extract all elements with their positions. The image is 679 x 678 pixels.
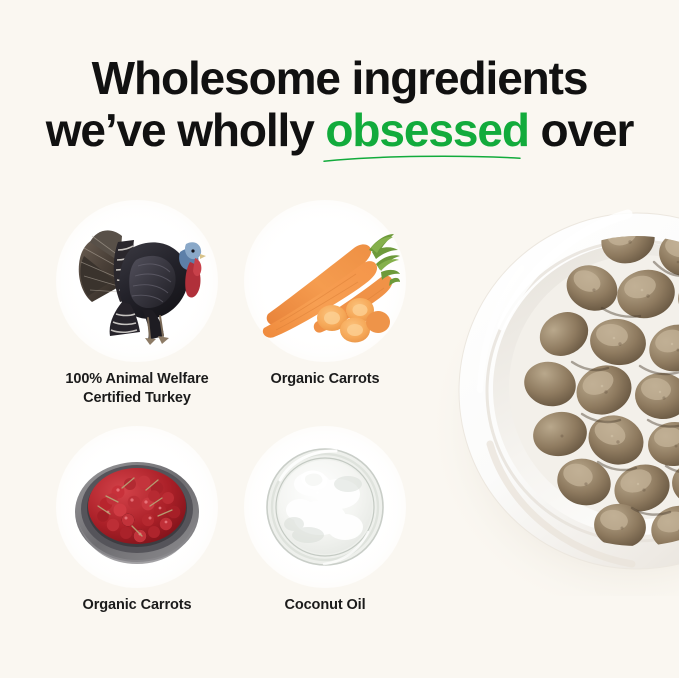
coconut-oil-jar-photo-icon [250, 432, 400, 582]
berries-bowl-photo-icon [62, 432, 212, 582]
ingredient-grid: 100% Animal Welfare Certified Turkey [28, 206, 424, 636]
ingredient-label-line2: Certified Turkey [83, 390, 191, 406]
ingredient-thumbnail [62, 206, 212, 356]
headline-line-2: we’ve wholly obsessed over [0, 104, 679, 156]
page-title: Wholesome ingredients we’ve wholly obses… [0, 52, 679, 156]
ingredient-label-line1: Organic Carrots [271, 371, 380, 387]
headline-text-after: over [529, 104, 633, 156]
headline-line-1: Wholesome ingredients [0, 52, 679, 104]
ingredient-item-coconut-oil: Coconut Oil [226, 432, 424, 615]
headline-text-before: we’ve wholly [46, 104, 326, 156]
ingredient-label-line1: 100% Animal Welfare [65, 371, 208, 387]
ingredient-item-turkey: 100% Animal Welfare Certified Turkey [38, 206, 236, 408]
ingredient-label-line1: Organic Carrots [83, 597, 192, 613]
ingredient-label-line1: Coconut Oil [284, 597, 365, 613]
ingredient-label: 100% Animal Welfare Certified Turkey [38, 370, 236, 408]
ingredient-thumbnail [62, 432, 212, 582]
carrots-photo-icon [250, 206, 400, 356]
headline-accent-text: obsessed [325, 104, 528, 156]
ingredient-thumbnail [250, 432, 400, 582]
headline-accent-word: obsessed [325, 104, 528, 156]
ingredient-item-carrots-bottom: Organic Carrots [38, 432, 236, 615]
ingredient-label: Organic Carrots [38, 596, 236, 615]
ingredient-item-carrots-top: Organic Carrots [226, 206, 424, 389]
ingredient-label: Coconut Oil [226, 596, 424, 615]
ingredient-thumbnail [250, 206, 400, 356]
promo-image-canvas: Wholesome ingredients we’ve wholly obses… [0, 0, 679, 678]
kibble-bowl-photo [432, 176, 679, 596]
ingredient-label: Organic Carrots [226, 370, 424, 389]
turkey-photo-icon [62, 206, 212, 356]
